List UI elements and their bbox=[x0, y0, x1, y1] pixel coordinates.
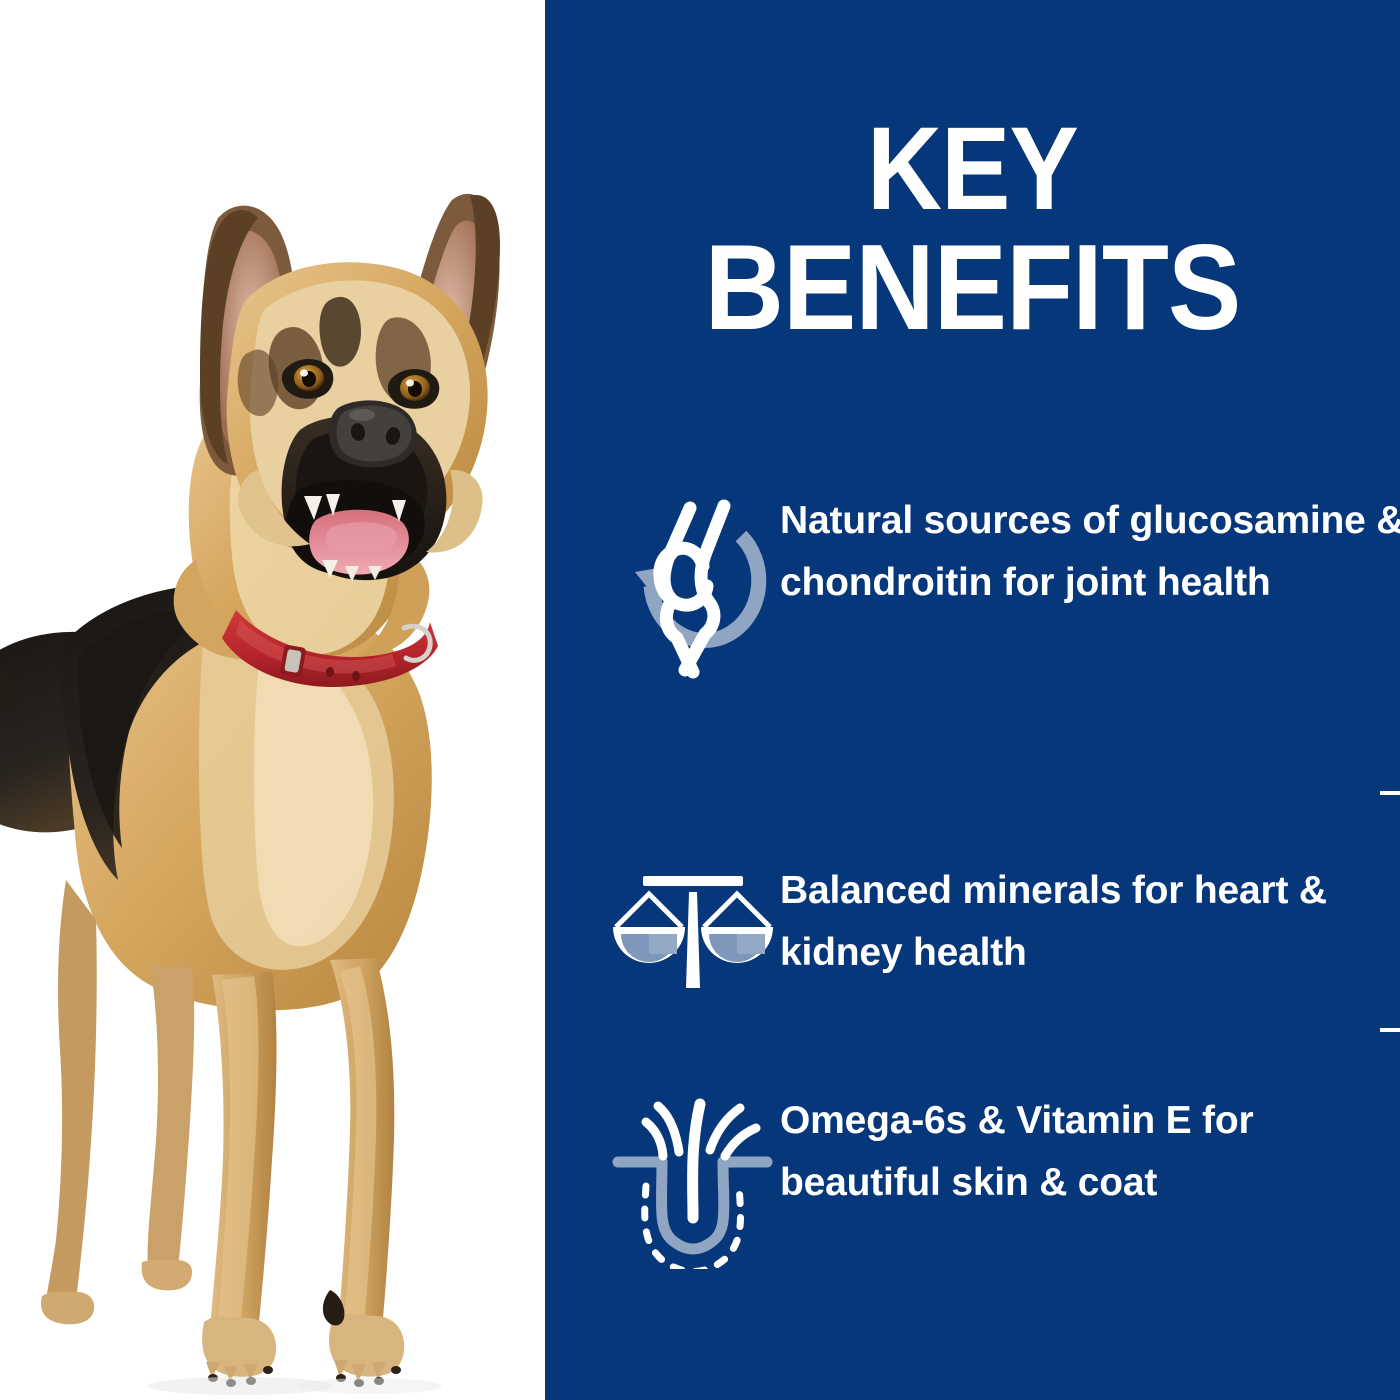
dog-photo-panel bbox=[0, 0, 545, 1400]
benefit-item-joint-health: Natural sources of glucosamine & chondro… bbox=[605, 488, 1400, 679]
dog-photo-illustration bbox=[0, 0, 545, 1400]
benefit-divider-2 bbox=[1380, 1028, 1400, 1032]
benefit-item-minerals: Balanced minerals for heart & kidney hea… bbox=[605, 858, 1400, 992]
page-title-line-2: BENEFITS bbox=[602, 228, 1343, 348]
benefit-text-minerals: Balanced minerals for heart & kidney hea… bbox=[780, 858, 1400, 983]
benefit-text-joint-health: Natural sources of glucosamine & chondro… bbox=[780, 488, 1400, 613]
hair-follicle-icon bbox=[605, 1088, 780, 1269]
benefit-divider-1 bbox=[1380, 791, 1400, 795]
benefit-text-skin-coat: Omega-6s & Vitamin E for beautiful skin … bbox=[780, 1088, 1400, 1213]
page-title-line-1: KEY bbox=[610, 112, 1334, 228]
balance-scale-icon bbox=[605, 858, 780, 992]
benefits-panel: KEY BENEFITS bbox=[545, 0, 1400, 1400]
page-title: KEY BENEFITS bbox=[545, 112, 1400, 347]
joint-rotation-icon bbox=[605, 488, 780, 679]
key-benefits-page: KEY BENEFITS bbox=[0, 0, 1400, 1400]
benefit-item-skin-coat: Omega-6s & Vitamin E for beautiful skin … bbox=[605, 1088, 1400, 1269]
